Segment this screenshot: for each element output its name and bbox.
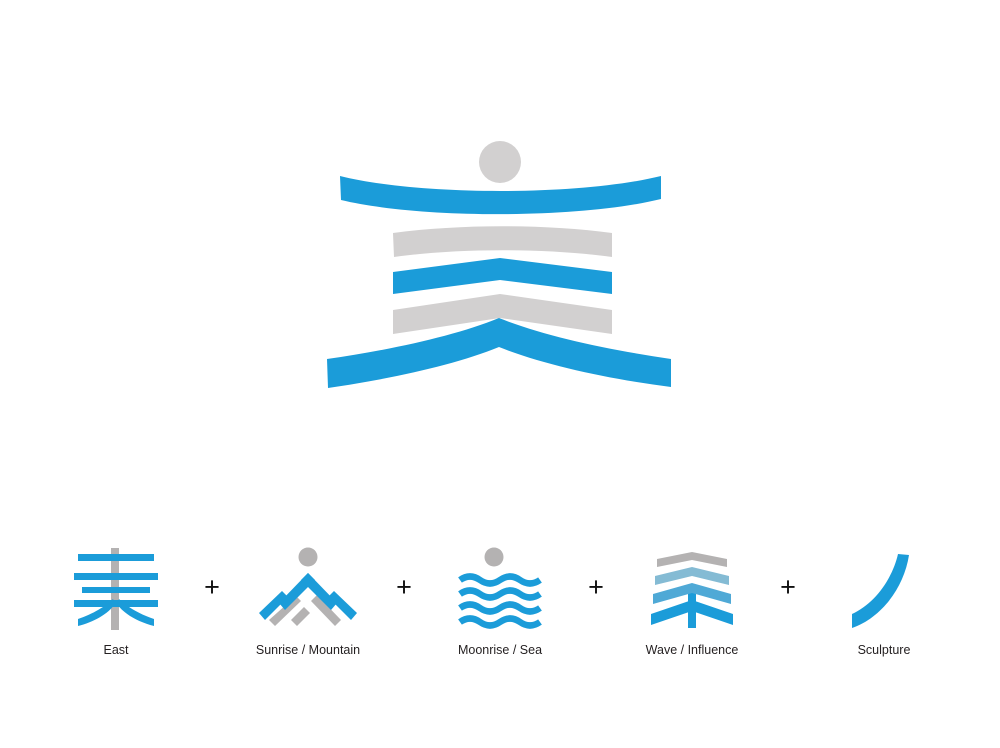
band-5-blue-chevron — [327, 318, 671, 388]
formula-term-sunrise: Sunrise / Mountain — [235, 540, 381, 658]
formula-row: East + Sunrise / Mountain + — [0, 540, 1000, 690]
formula-term-moonrise: Moonrise / Sea — [427, 540, 573, 658]
sun-circle — [479, 141, 521, 183]
main-logo-stage — [0, 0, 1000, 470]
moon-dot — [485, 547, 504, 566]
kanji-east-icon — [43, 540, 189, 635]
formula-term-wave: Wave / Influence — [619, 540, 765, 658]
moonrise-sea-icon — [427, 540, 573, 635]
plus-separator-2: + — [381, 540, 427, 635]
sun-dot — [299, 547, 318, 566]
formula-term-label: Moonrise / Sea — [458, 643, 542, 658]
wave-influence-icon — [619, 540, 765, 635]
band-2-gray-arc — [393, 226, 612, 257]
formula-term-label: Sunrise / Mountain — [256, 643, 360, 658]
formula-term-east: East — [43, 540, 189, 658]
plus-separator-1: + — [189, 540, 235, 635]
plus-separator-3: + — [573, 540, 619, 635]
formula-term-label: Wave / Influence — [646, 643, 739, 658]
sculpture-curve-icon — [811, 540, 957, 635]
main-logo — [0, 0, 1000, 470]
formula-term-sculpture: Sculpture — [811, 540, 957, 658]
band-3-blue-chevron — [393, 258, 612, 294]
plus-separator-4: + — [765, 540, 811, 635]
formula-term-label: Sculpture — [858, 643, 911, 658]
sunrise-mountain-icon — [235, 540, 381, 635]
formula-term-label: East — [103, 643, 128, 658]
